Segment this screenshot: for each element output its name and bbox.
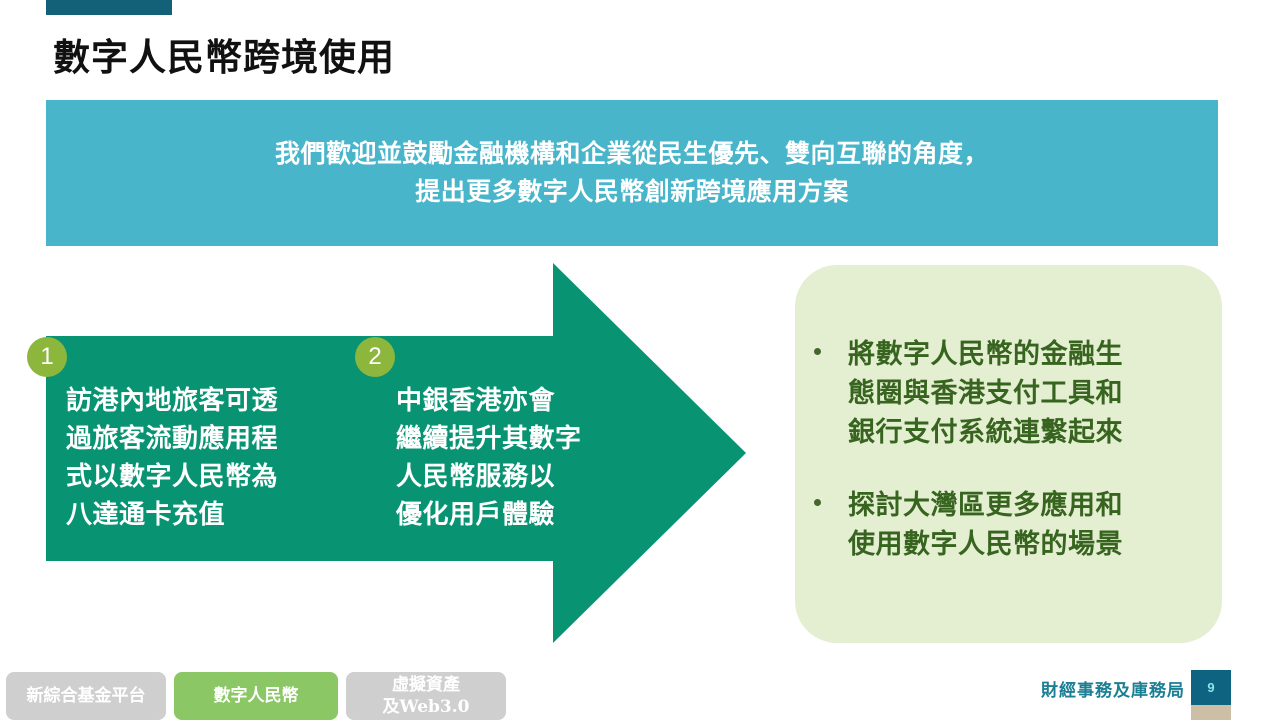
arrow-item-2-text: 中銀香港亦會 繼續提升其數字 人民幣服務以 優化用戶體驗: [396, 382, 646, 534]
arrow-item-1-text: 訪港內地旅客可透 過旅客流動應用程 式以數字人民幣為 八達通卡充值: [66, 382, 336, 534]
top-accent-bar: [46, 0, 172, 15]
outcomes-bullet-list: 將數字人民幣的金融生 態圈與香港支付工具和 銀行支付系統連繫起來 探討大灣區更多…: [814, 335, 1214, 564]
step-badge-2: 2: [355, 337, 395, 377]
footer-tab-digital-rmb[interactable]: 數字人民幣: [174, 672, 338, 720]
footer-tab-new-fund-platform[interactable]: 新綜合基金平台: [6, 672, 166, 720]
banner-text: 我們歡迎並鼓勵金融機構和企業從民生優先、雙向互聯的角度， 提出更多數字人民幣創新…: [275, 135, 989, 211]
highlight-banner: 我們歡迎並鼓勵金融機構和企業從民生優先、雙向互聯的角度， 提出更多數字人民幣創新…: [46, 100, 1218, 246]
slide-canvas: 數字人民幣跨境使用 我們歡迎並鼓勵金融機構和企業從民生優先、雙向互聯的角度， 提…: [0, 0, 1279, 720]
list-item: 將數字人民幣的金融生 態圈與香港支付工具和 銀行支付系統連繫起來: [814, 335, 1214, 452]
page-title: 數字人民幣跨境使用: [53, 32, 395, 82]
bullet-dot-icon: [814, 335, 848, 355]
page-number-underbar: [1191, 705, 1231, 720]
step-badge-1: 1: [27, 337, 67, 377]
page-number-badge: 9: [1191, 670, 1231, 705]
department-name: 財經事務及庫務局: [1041, 676, 1185, 701]
list-item: 探討大灣區更多應用和 使用數字人民幣的場景: [814, 486, 1214, 564]
bullet-dot-icon: [814, 486, 848, 506]
bullet-text: 將數字人民幣的金融生 態圈與香港支付工具和 銀行支付系統連繫起來: [848, 335, 1123, 452]
footer-tab-virtual-assets-web3[interactable]: 虛擬資產 及Web3.0: [346, 672, 506, 720]
bullet-text: 探討大灣區更多應用和 使用數字人民幣的場景: [848, 486, 1123, 564]
footer-tab-bar: 新綜合基金平台 數字人民幣 虛擬資產 及Web3.0: [6, 672, 514, 720]
